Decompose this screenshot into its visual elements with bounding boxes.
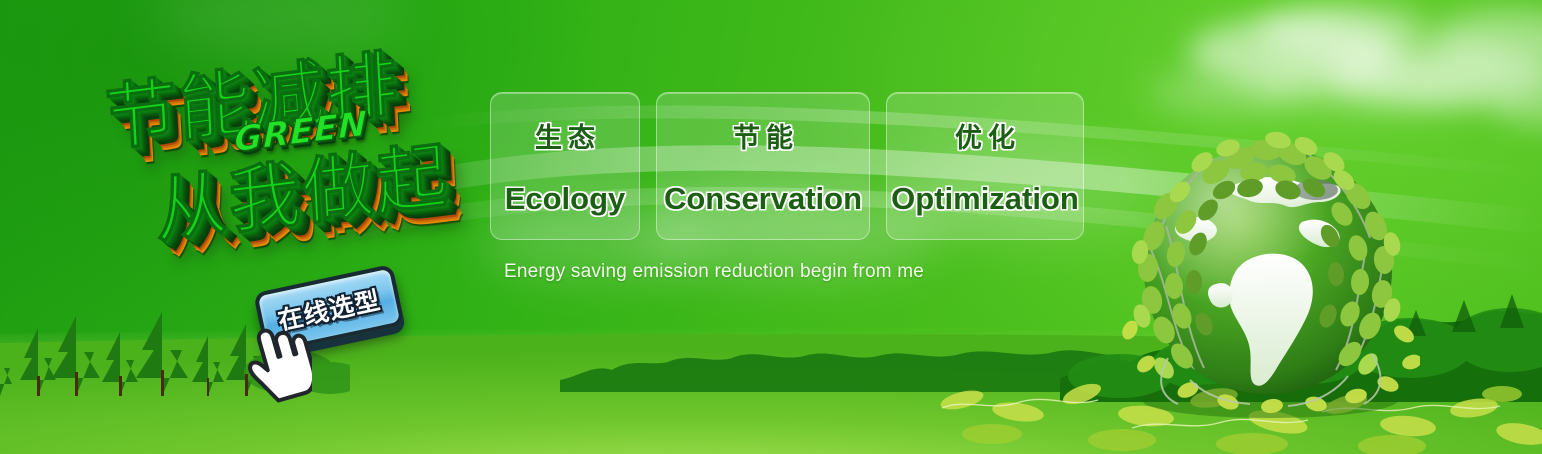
cloud-icon — [150, 0, 410, 50]
feature-card-title-cn: 优化 — [949, 116, 1021, 155]
feature-card-title-cn: 生态 — [529, 116, 601, 155]
cloud-icon — [1258, 4, 1428, 56]
cloud-icon — [1330, 44, 1542, 104]
green-energy-banner: 节能减排 GREEN 从我做起 在线选型 生态 Ecology 节能 Conse… — [0, 0, 1542, 454]
headline-line-2: 从我做起 — [152, 116, 451, 257]
feature-card-title-cn: 节能 — [727, 116, 799, 155]
feature-card-title-en: Optimization — [891, 181, 1079, 217]
cloud-icon — [1250, 62, 1510, 108]
cloud-icon — [1188, 18, 1398, 86]
feature-card-list: 生态 Ecology 节能 Conservation 优化 Optimizati… — [490, 92, 1084, 240]
cta-label: 在线选型 — [274, 281, 383, 338]
feature-card-ecology[interactable]: 生态 Ecology — [490, 92, 640, 240]
leafy-globe-icon — [1120, 118, 1420, 418]
feature-card-optimization[interactable]: 优化 Optimization — [886, 92, 1084, 240]
feature-card-title-en: Conservation — [664, 181, 862, 217]
feature-card-conservation[interactable]: 节能 Conservation — [656, 92, 870, 240]
headline-line-1: 节能减排 — [102, 24, 401, 165]
cloud-icon — [1490, 78, 1542, 128]
banner-tagline: Energy saving emission reduction begin f… — [504, 261, 924, 283]
feature-card-title-en: Ecology — [505, 181, 626, 217]
headline-3d: 节能减排 GREEN 从我做起 — [96, 36, 516, 286]
cloud-icon — [1430, 10, 1542, 68]
cloud-icon — [1150, 70, 1300, 114]
headline-green-overlay: GREEN — [234, 104, 368, 161]
